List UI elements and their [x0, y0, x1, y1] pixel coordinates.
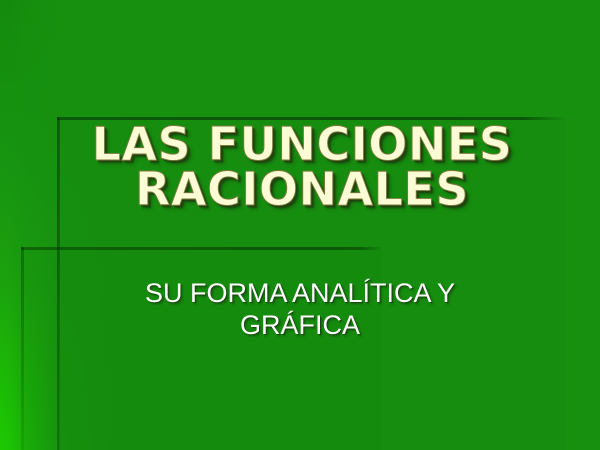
presentation-slide: LAS FUNCIONES RACIONALES SU FORMA ANALÍT…: [0, 0, 600, 450]
slide-title[interactable]: LAS FUNCIONES RACIONALES: [52, 122, 552, 212]
slide-subtitle[interactable]: SU FORMA ANALÍTICA Y GRÁFICA: [60, 278, 540, 342]
subtitle-panel-top-edge: [21, 247, 382, 250]
title-line-1: LAS FUNCIONES: [52, 122, 552, 167]
subtitle-line-1: SU FORMA ANALÍTICA Y: [60, 278, 540, 310]
subtitle-panel-left-edge: [21, 247, 24, 450]
subtitle-line-2: GRÁFICA: [60, 310, 540, 342]
title-line-2: RACIONALES: [52, 167, 552, 212]
